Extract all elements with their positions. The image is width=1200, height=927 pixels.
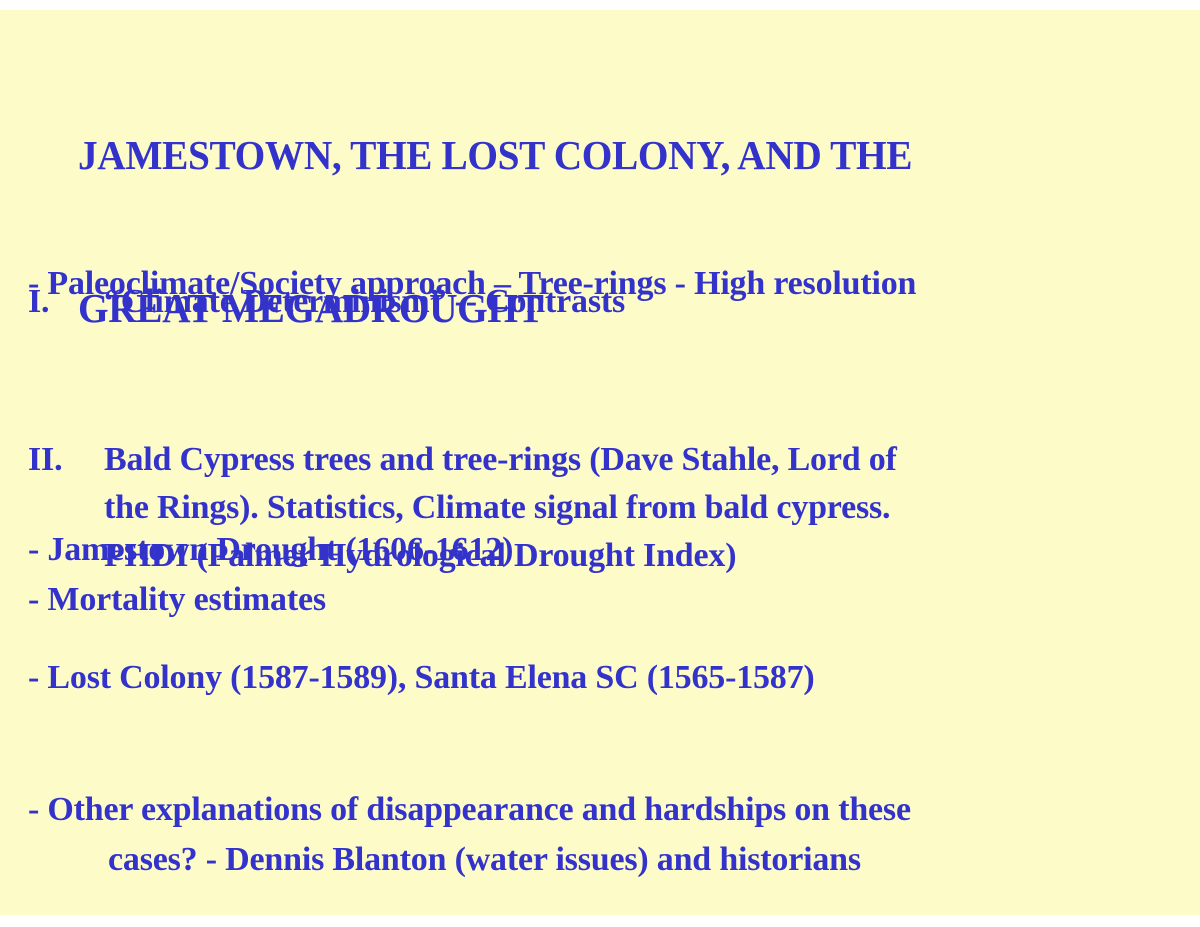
bullet-other-explanations: - Other explanations of disappearance an… bbox=[28, 735, 1193, 915]
bullet-jamestown-drought: - Jamestown Drought (1606-1612) bbox=[28, 525, 1193, 575]
bullet-other-line-1: - Other explanations of disappearance an… bbox=[28, 791, 911, 828]
section-marker-ii: II. bbox=[28, 436, 104, 484]
bullet-paleoclimate: - Paleoclimate/Society approach – Tree-r… bbox=[28, 260, 1196, 308]
title-line-1: JAMESTOWN, THE LOST COLONY, AND THE bbox=[78, 130, 1134, 181]
bullet-other-line-2: cases? - Dennis Blanton (water issues) a… bbox=[28, 835, 1193, 885]
section-roman-two: II. Bald Cypress trees and tree-rings (D… bbox=[28, 340, 1188, 676]
bullet-mortality-estimates: - Mortality estimates bbox=[28, 575, 1193, 625]
slide-canvas: JAMESTOWN, THE LOST COLONY, AND THE GREA… bbox=[0, 10, 1200, 915]
bullet-lost-colony: - Lost Colony (1587-1589), Santa Elena S… bbox=[28, 653, 1193, 703]
